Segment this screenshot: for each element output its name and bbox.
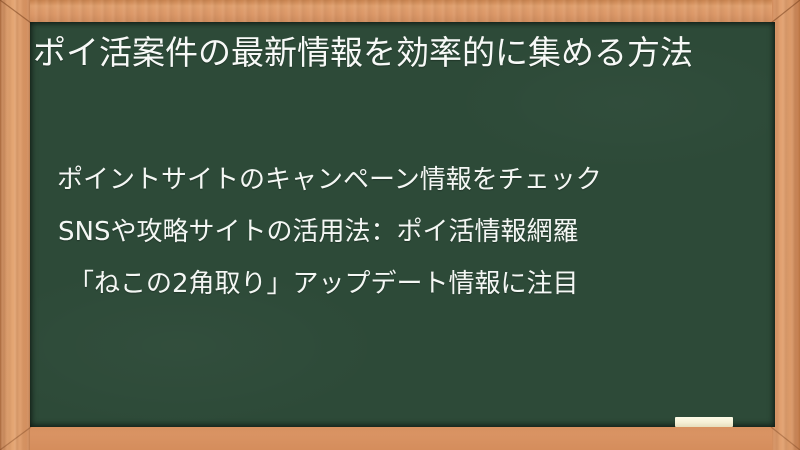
chalkboard-slide: ポイ活案件の最新情報を効率的に集める方法 ポイントサイトのキャンペーン情報をチェ… [0, 0, 800, 450]
chalk-stick-icon [675, 417, 733, 427]
frame-top-plank [0, 0, 800, 22]
list-item: ポイントサイトのキャンペーン情報をチェック [30, 154, 775, 206]
frame-right-plank [772, 0, 800, 450]
list-item: 「ねこの2角取り」アップデート情報に注目 [30, 258, 775, 310]
frame-bottom-plank [0, 427, 800, 450]
list-item: SNSや攻略サイトの活用法：ポイ活情報網羅 [30, 206, 775, 258]
blackboard-surface: ポイ活案件の最新情報を効率的に集める方法 ポイントサイトのキャンペーン情報をチェ… [30, 22, 775, 427]
topic-list: ポイントサイトのキャンペーン情報をチェック SNSや攻略サイトの活用法：ポイ活情… [30, 154, 775, 310]
page-title: ポイ活案件の最新情報を効率的に集める方法 [33, 31, 768, 75]
frame-left-plank [0, 0, 30, 450]
board-content: ポイ活案件の最新情報を効率的に集める方法 ポイントサイトのキャンペーン情報をチェ… [30, 22, 775, 427]
